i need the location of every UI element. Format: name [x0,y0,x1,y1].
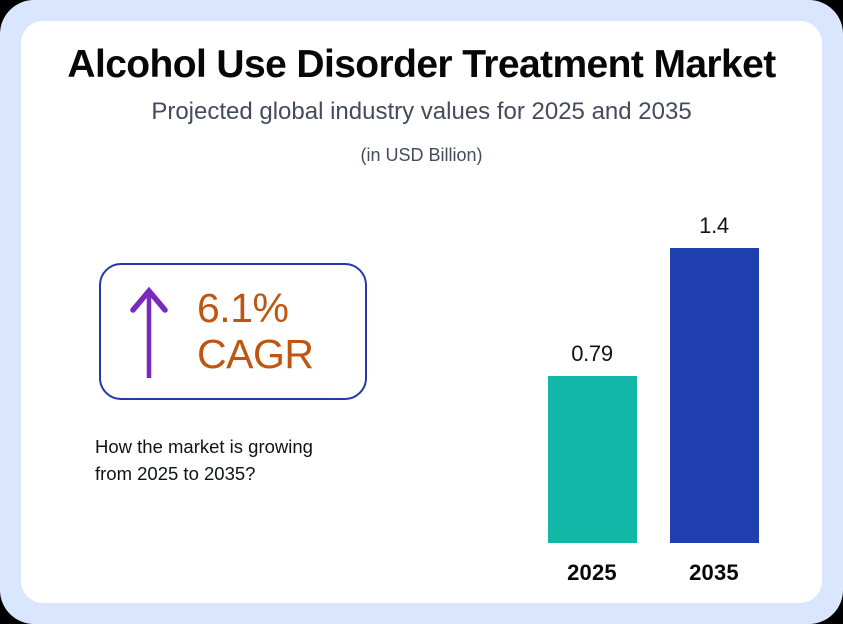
bar-value-2035: 1.4 [659,213,769,239]
cagr-value: 6.1% [197,286,351,332]
page-subtitle: Projected global industry values for 202… [21,98,822,126]
bar-label-2025: 2025 [537,560,647,586]
arrow-up-icon [101,284,197,380]
cagr-callout: 6.1% CAGR [99,263,367,400]
infographic-frame: Alcohol Use Disorder Treatment Market Pr… [0,0,843,624]
bar-chart: 0.79 2025 1.4 2035 [501,166,801,586]
growth-question: How the market is growing from 2025 to 2… [95,434,395,488]
bar-rect-2025 [548,376,637,543]
bar-value-2025: 0.79 [537,341,647,367]
page-title: Alcohol Use Disorder Treatment Market [21,43,822,87]
growth-question-line-2: from 2025 to 2035? [95,461,395,488]
bar-label-2035: 2035 [659,560,769,586]
bar-group-2035: 1.4 2035 [659,143,769,586]
bar-rect-2035 [670,248,759,543]
cagr-text-block: 6.1% CAGR [197,286,365,378]
cagr-label: CAGR [197,332,351,378]
infographic-card: Alcohol Use Disorder Treatment Market Pr… [21,21,822,603]
growth-question-line-1: How the market is growing [95,434,395,461]
bar-group-2025: 0.79 2025 [537,143,647,586]
